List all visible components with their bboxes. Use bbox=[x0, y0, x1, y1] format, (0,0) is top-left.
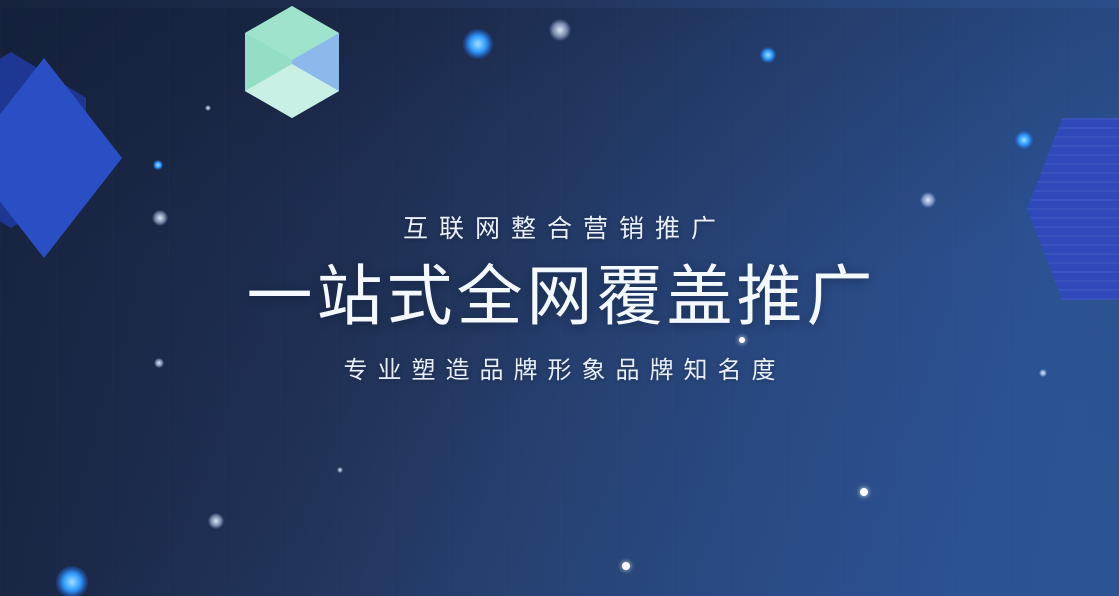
particle-dot bbox=[56, 566, 88, 596]
particle-dot bbox=[860, 488, 868, 496]
hero-subline: 专业塑造品牌形象品牌知名度 bbox=[0, 350, 1119, 385]
hero-copy: 互联网整合营销推广 一站式全网覆盖推广 专业塑造品牌形象品牌知名度 bbox=[0, 214, 1119, 385]
particle-dot bbox=[920, 192, 936, 208]
particle-dot bbox=[205, 105, 211, 111]
background-top-strip bbox=[0, 0, 1119, 8]
hero-banner: 互联网整合营销推广 一站式全网覆盖推广 专业塑造品牌形象品牌知名度 bbox=[0, 0, 1119, 596]
isometric-cube-icon bbox=[245, 6, 339, 118]
particle-dot bbox=[153, 160, 163, 170]
hero-headline: 一站式全网覆盖推广 bbox=[0, 259, 1119, 334]
particle-dot bbox=[549, 19, 571, 41]
particle-dot bbox=[622, 562, 630, 570]
particle-dot bbox=[1015, 131, 1033, 149]
particle-dot bbox=[463, 29, 493, 59]
particle-dot bbox=[760, 47, 776, 63]
hero-eyebrow: 互联网整合营销推广 bbox=[0, 214, 1119, 245]
particle-dot bbox=[337, 467, 343, 473]
particle-dot bbox=[208, 513, 224, 529]
